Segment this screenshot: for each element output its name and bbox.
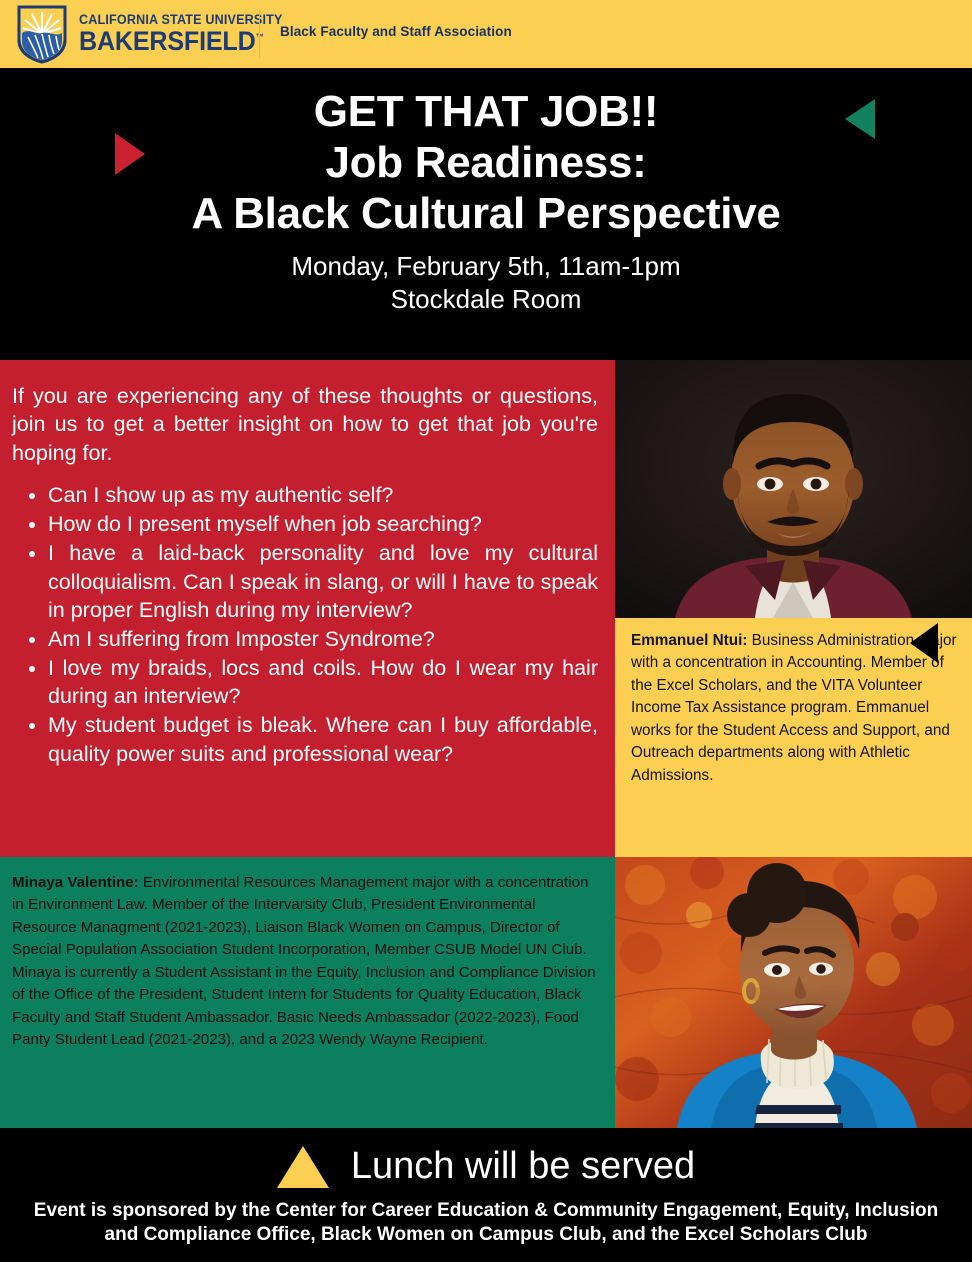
triangle-right-icon	[115, 133, 145, 175]
event-datetime: Monday, February 5th, 11am-1pm	[0, 250, 972, 283]
triangle-left-icon	[910, 623, 938, 663]
event-flyer: CALIFORNIA STATE UNIVERSITY BAKERSFIELD™…	[0, 0, 972, 1262]
bio-body: Environmental Resources Management major…	[12, 874, 596, 1048]
event-title: GET THAT JOB!! Job Readiness: A Black Cu…	[0, 68, 972, 239]
speaker-photo-minaya	[615, 857, 972, 1128]
questions-panel: If you are experiencing any of these tho…	[0, 360, 615, 857]
bio-text: Minaya Valentine: Environmental Resource…	[12, 872, 601, 1052]
questions-intro: If you are experiencing any of these tho…	[12, 382, 598, 467]
list-item: My student budget is bleak. Where can I …	[48, 711, 598, 767]
association-name: Black Faculty and Staff Association	[280, 24, 512, 39]
list-item: I have a laid-back personality and love …	[48, 539, 598, 623]
logo-wordmark: CALIFORNIA STATE UNIVERSITY BAKERSFIELD™	[79, 13, 298, 55]
title-line-3: A Black Cultural Perspective	[0, 188, 972, 239]
list-item: Can I show up as my authentic self?	[48, 481, 598, 509]
csub-logo: CALIFORNIA STATE UNIVERSITY BAKERSFIELD™	[0, 4, 298, 64]
questions-list: Can I show up as my authentic self? How …	[12, 481, 598, 768]
speaker-bio-minaya: Minaya Valentine: Environmental Resource…	[0, 857, 615, 1128]
triangle-up-icon	[277, 1146, 329, 1188]
lunch-text: Lunch will be served	[351, 1145, 695, 1188]
sponsor-text: Event is sponsored by the Center for Car…	[0, 1199, 972, 1247]
speaker-name: Minaya Valentine:	[12, 874, 139, 891]
logo-line-university: CALIFORNIA STATE UNIVERSITY	[79, 13, 283, 27]
speaker-name: Emmanuel Ntui:	[631, 632, 747, 649]
title-line-2: Job Readiness:	[0, 137, 972, 188]
list-item: I love my braids, locs and coils. How do…	[48, 654, 598, 710]
logo-line-bakersfield: BAKERSFIELD™	[79, 28, 283, 55]
triangle-left-icon	[845, 99, 875, 139]
lunch-row: Lunch will be served	[0, 1128, 972, 1188]
event-location: Stockdale Room	[0, 283, 972, 316]
flyer-header: CALIFORNIA STATE UNIVERSITY BAKERSFIELD™…	[0, 0, 972, 68]
csub-shield-sunburst-logo	[16, 4, 68, 64]
title-block: GET THAT JOB!! Job Readiness: A Black Cu…	[0, 68, 972, 360]
flyer-footer: Lunch will be served Event is sponsored …	[0, 1128, 972, 1262]
title-line-1: GET THAT JOB!!	[0, 86, 972, 137]
speaker-photo-emmanuel	[615, 360, 972, 618]
bio-text: Emmanuel Ntui: Business Administration m…	[631, 630, 958, 787]
header-divider	[259, 10, 260, 58]
bio-body: Business Administration major with a con…	[631, 632, 957, 784]
list-item: Am I suffering from Imposter Syndrome?	[48, 625, 598, 653]
event-details: Monday, February 5th, 11am-1pm Stockdale…	[0, 250, 972, 315]
list-item: How do I present myself when job searchi…	[48, 510, 598, 538]
